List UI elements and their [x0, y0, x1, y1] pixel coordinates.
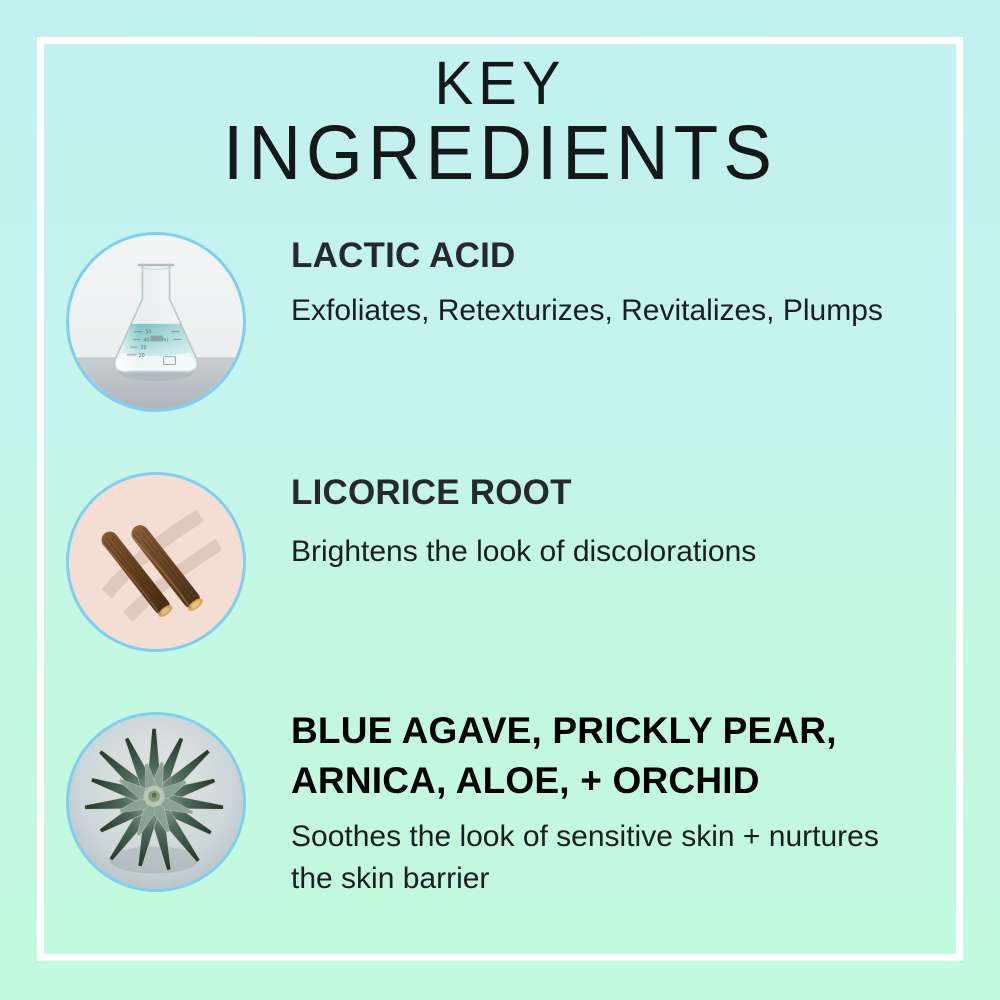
ingredient-description: Exfoliates, Retexturizes, Revitalizes, P…	[291, 290, 911, 332]
ingredient-text-licorice-root: LICORICE ROOT Brightens the look of disc…	[291, 473, 911, 573]
flask-icon: 5040 3020 ml	[66, 232, 246, 412]
licorice-root-icon	[66, 472, 246, 652]
ingredient-description: Brightens the look of discolorations	[291, 531, 911, 573]
ingredient-name: BLUE AGAVE, PRICKLY PEAR, ARNICA, ALOE, …	[291, 706, 911, 806]
agave-plant-icon	[66, 712, 246, 892]
title-line-key: KEY	[0, 52, 1000, 116]
ingredient-text-lactic-acid: LACTIC ACID Exfoliates, Retexturizes, Re…	[291, 236, 911, 332]
ingredient-name: LICORICE ROOT	[291, 473, 911, 513]
ingredient-description: Soothes the look of sensitive skin + nur…	[291, 816, 911, 900]
key-ingredients-poster: KEY INGREDIENTS	[0, 0, 1000, 1000]
svg-text:20: 20	[139, 353, 145, 359]
ingredient-name: LACTIC ACID	[291, 236, 911, 276]
ingredient-text-blue-agave: BLUE AGAVE, PRICKLY PEAR, ARNICA, ALOE, …	[291, 706, 911, 900]
title-line-ingredients: INGREDIENTS	[0, 112, 1000, 195]
svg-text:50: 50	[145, 330, 151, 336]
svg-text:30: 30	[141, 345, 147, 351]
page-title: KEY INGREDIENTS	[0, 52, 1000, 190]
svg-text:40: 40	[143, 337, 149, 343]
